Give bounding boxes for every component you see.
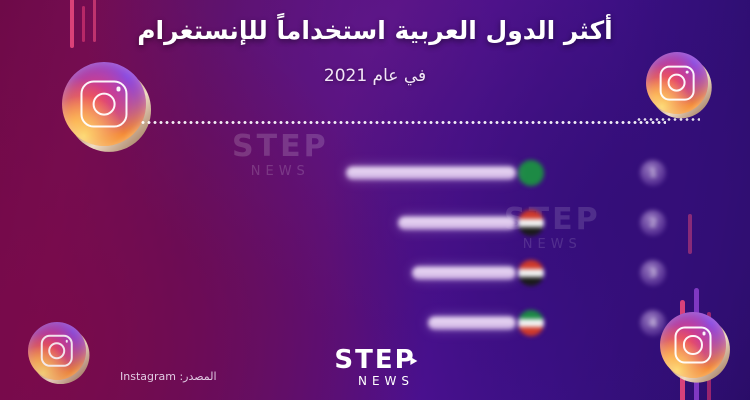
coin-face — [28, 322, 86, 380]
flag-stripe — [518, 319, 544, 327]
chart-row[interactable]: 1 — [118, 162, 664, 184]
rank-badge: 3 — [640, 260, 666, 286]
source-label: المصدر: Instagram — [120, 370, 217, 383]
rank-badge: 4 — [640, 310, 666, 336]
flag-stripe — [518, 210, 544, 219]
logo-step-label: STEP — [334, 345, 415, 375]
value-label — [344, 316, 403, 330]
flag-stripe — [518, 327, 544, 336]
country-flag-icon — [518, 160, 544, 186]
value-bar — [398, 217, 516, 230]
value-label — [299, 216, 374, 230]
decor-bar-bottom-right-4 — [688, 214, 692, 254]
instagram-icon — [80, 80, 127, 127]
instagram-coin-bottom-right — [660, 312, 726, 378]
chart-row[interactable]: 4 — [118, 312, 664, 334]
logo-news-text: NEWS — [356, 374, 415, 388]
chart-area: 1 2 3 — [118, 150, 664, 348]
value-label — [246, 166, 334, 180]
value-bar — [346, 167, 516, 180]
country-flag-icon — [518, 310, 544, 336]
flag-stripe — [518, 260, 544, 269]
country-label — [587, 166, 628, 181]
flag-stripe — [518, 269, 544, 277]
flag-stripe — [518, 160, 544, 186]
rank-badge: 1 — [640, 160, 666, 186]
instagram-coin-bottom-left — [28, 322, 86, 380]
chart-row[interactable]: 3 — [118, 262, 664, 284]
instagram-icon — [675, 327, 712, 364]
country-flag-icon — [518, 260, 544, 286]
chart-row[interactable]: 2 — [118, 212, 664, 234]
logo-step-text: STEP — [334, 347, 415, 373]
instagram-icon — [41, 335, 73, 367]
infographic-canvas: أكثر الدول العربية استخداماً للإنستغرام … — [0, 0, 750, 400]
page-title: أكثر الدول العربية استخداماً للإنستغرام — [0, 16, 750, 45]
page-subtitle: في عام 2021 — [0, 66, 750, 86]
value-bar — [412, 267, 516, 280]
country-label — [601, 266, 628, 281]
coin-face — [660, 312, 726, 378]
play-triangle-icon — [411, 357, 418, 365]
flag-stripe — [518, 277, 544, 286]
country-label — [596, 216, 628, 231]
flag-stripe — [518, 227, 544, 236]
rank-badge: 2 — [640, 210, 666, 236]
country-label — [601, 316, 628, 331]
value-label — [317, 266, 384, 280]
step-news-logo: STEP NEWS — [334, 347, 415, 388]
country-flag-icon — [518, 210, 544, 236]
header-divider — [140, 121, 666, 124]
flag-stripe — [518, 310, 544, 319]
flag-stripe — [518, 219, 544, 227]
value-bar — [428, 317, 516, 330]
